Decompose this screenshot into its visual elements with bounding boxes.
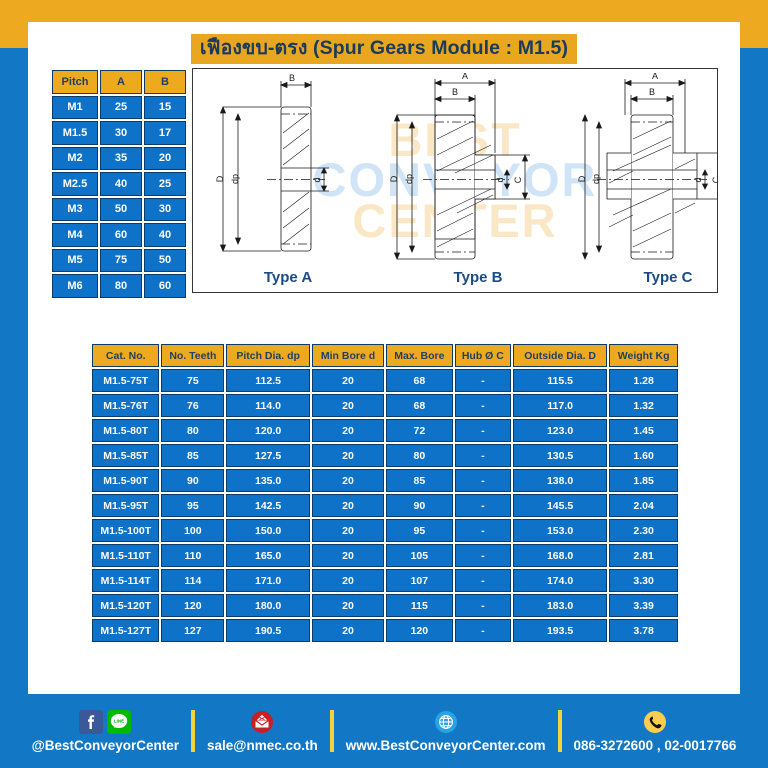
spec-cell: 20 bbox=[312, 594, 384, 617]
spec-cell: 80 bbox=[386, 444, 453, 467]
svg-text:LINE: LINE bbox=[114, 719, 124, 724]
pitch-cell: 30 bbox=[144, 198, 186, 222]
spec-cell: 80 bbox=[161, 419, 224, 442]
pitch-cell: 50 bbox=[144, 249, 186, 273]
spec-cell: 20 bbox=[312, 469, 384, 492]
pitch-table-row: M23520 bbox=[52, 147, 186, 171]
spec-cell: 2.04 bbox=[609, 494, 678, 517]
spec-cell: 174.0 bbox=[513, 569, 607, 592]
spec-cell: 95 bbox=[161, 494, 224, 517]
pitch-cell: 40 bbox=[144, 223, 186, 247]
dim-label-dp: dp bbox=[230, 174, 240, 184]
social-handle[interactable]: @BestConveyorCenter bbox=[32, 738, 179, 753]
pitch-cell: 30 bbox=[100, 121, 142, 145]
spec-cell: 20 bbox=[312, 519, 384, 542]
spec-cell: 1.60 bbox=[609, 444, 678, 467]
spec-cell: 3.39 bbox=[609, 594, 678, 617]
dim-label-d-outside: D bbox=[577, 175, 587, 182]
spec-cell: 150.0 bbox=[226, 519, 310, 542]
dim-label-b: B bbox=[289, 73, 295, 83]
spec-cell: 153.0 bbox=[513, 519, 607, 542]
spec-cell: 171.0 bbox=[226, 569, 310, 592]
pitch-table-row: M35030 bbox=[52, 198, 186, 222]
spec-cell: 183.0 bbox=[513, 594, 607, 617]
title-container: เฟืองขบ-ตรง (Spur Gears Module : M1.5) bbox=[28, 22, 740, 64]
social-icons: LINE bbox=[79, 709, 131, 735]
pitch-table-row: M1.53017 bbox=[52, 121, 186, 145]
table-row: M1.5-80T80120.02072-123.01.45 bbox=[92, 419, 678, 442]
pitch-cell: 20 bbox=[144, 147, 186, 171]
spec-table-container: Cat. No.No. TeethPitch Dia. dpMin Bore d… bbox=[90, 342, 680, 644]
spec-cell: 107 bbox=[386, 569, 453, 592]
pitch-cell: 15 bbox=[144, 96, 186, 120]
spec-cell: - bbox=[455, 369, 511, 392]
spec-cell: 95 bbox=[386, 519, 453, 542]
type-b-label: Type B bbox=[383, 269, 573, 286]
spec-cell: 85 bbox=[386, 469, 453, 492]
spec-cell: 120 bbox=[161, 594, 224, 617]
table-row: M1.5-90T90135.02085-138.01.85 bbox=[92, 469, 678, 492]
table-row: M1.5-114T114171.020107-174.03.30 bbox=[92, 569, 678, 592]
table-row: M1.5-95T95142.52090-145.52.04 bbox=[92, 494, 678, 517]
spec-cell: 85 bbox=[161, 444, 224, 467]
dim-label-a: A bbox=[462, 73, 468, 81]
spec-cell: 114 bbox=[161, 569, 224, 592]
type-a-label: Type A bbox=[193, 269, 383, 286]
dim-label-a: A bbox=[652, 73, 658, 81]
dim-label-dp: dp bbox=[591, 174, 601, 184]
spec-cell: M1.5-110T bbox=[92, 544, 159, 567]
spec-cell: M1.5-85T bbox=[92, 444, 159, 467]
spec-cell: 110 bbox=[161, 544, 224, 567]
spec-cell: 165.0 bbox=[226, 544, 310, 567]
diagram-type-a: B D dp d Type A bbox=[193, 69, 383, 292]
spec-cell: 75 bbox=[161, 369, 224, 392]
spec-cell: 130.5 bbox=[513, 444, 607, 467]
spec-cell: 1.45 bbox=[609, 419, 678, 442]
spec-cell: 3.78 bbox=[609, 619, 678, 642]
type-b-drawing: A B D dp d C bbox=[383, 73, 573, 273]
spec-cell: 190.5 bbox=[226, 619, 310, 642]
spec-cell: - bbox=[455, 394, 511, 417]
spec-cell: 145.5 bbox=[513, 494, 607, 517]
pitch-header-pitch: Pitch bbox=[52, 70, 98, 94]
pitch-cell: M6 bbox=[52, 274, 98, 298]
phone-icon-wrap bbox=[643, 709, 667, 735]
pitch-cell: 40 bbox=[100, 172, 142, 196]
globe-icon[interactable] bbox=[434, 710, 458, 734]
pitch-cell: M4 bbox=[52, 223, 98, 247]
spec-cell: - bbox=[455, 569, 511, 592]
pitch-cell: 25 bbox=[100, 96, 142, 120]
spec-cell: 20 bbox=[312, 494, 384, 517]
spec-cell: 112.5 bbox=[226, 369, 310, 392]
footer-contact-bar: LINE @BestConveyorCenter sale@nmec.co.th bbox=[0, 694, 768, 768]
pitch-table-row: M68060 bbox=[52, 274, 186, 298]
dim-label-b: B bbox=[649, 87, 655, 97]
spec-cell: M1.5-120T bbox=[92, 594, 159, 617]
spec-header-cell: Max. Bore bbox=[386, 344, 453, 367]
spec-cell: 115.5 bbox=[513, 369, 607, 392]
spec-header-cell: Weight Kg bbox=[609, 344, 678, 367]
email-icon-wrap bbox=[250, 709, 274, 735]
table-row: M1.5-75T75112.52068-115.51.28 bbox=[92, 369, 678, 392]
spec-cell: 20 bbox=[312, 369, 384, 392]
pitch-table-row: M2.54025 bbox=[52, 172, 186, 196]
diagram-row: B D dp d Type A bbox=[193, 69, 717, 292]
diagram-panel: BEST CONVEYOR CENTER bbox=[192, 68, 718, 293]
spec-cell: 90 bbox=[386, 494, 453, 517]
phone-icon[interactable] bbox=[643, 710, 667, 734]
dim-label-c: C bbox=[513, 176, 523, 183]
spec-cell: 20 bbox=[312, 544, 384, 567]
pitch-cell: 80 bbox=[100, 274, 142, 298]
spec-cell: 20 bbox=[312, 569, 384, 592]
spec-cell: M1.5-95T bbox=[92, 494, 159, 517]
type-c-label: Type C bbox=[573, 269, 718, 286]
spec-cell: - bbox=[455, 444, 511, 467]
spec-cell: 68 bbox=[386, 394, 453, 417]
spec-header-cell: Pitch Dia. dp bbox=[226, 344, 310, 367]
pitch-cell: M1.5 bbox=[52, 121, 98, 145]
spec-header-cell: Hub Ø C bbox=[455, 344, 511, 367]
spec-cell: M1.5-90T bbox=[92, 469, 159, 492]
spec-cell: - bbox=[455, 619, 511, 642]
pitch-table-row: M12515 bbox=[52, 96, 186, 120]
spec-cell: 115 bbox=[386, 594, 453, 617]
pitch-table-header-row: Pitch A B bbox=[52, 70, 186, 94]
spec-cell: 127 bbox=[161, 619, 224, 642]
spec-header-cell: Outside Dia. D bbox=[513, 344, 607, 367]
spec-cell: 135.0 bbox=[226, 469, 310, 492]
table-row: M1.5-110T110165.020105-168.02.81 bbox=[92, 544, 678, 567]
spec-cell: 72 bbox=[386, 419, 453, 442]
upper-section: Pitch A B M12515M1.53017M23520M2.54025M3… bbox=[50, 68, 718, 296]
spec-cell: - bbox=[455, 419, 511, 442]
spec-cell: 2.30 bbox=[609, 519, 678, 542]
spec-table: Cat. No.No. TeethPitch Dia. dpMin Bore d… bbox=[90, 342, 680, 644]
spec-cell: - bbox=[455, 519, 511, 542]
spec-cell: - bbox=[455, 469, 511, 492]
pitch-table-row: M46040 bbox=[52, 223, 186, 247]
spec-cell: M1.5-76T bbox=[92, 394, 159, 417]
diagram-type-b: A B D dp d C Type B bbox=[383, 69, 573, 292]
content-card: เฟืองขบ-ตรง (Spur Gears Module : M1.5) P… bbox=[28, 22, 740, 694]
spec-cell: 114.0 bbox=[226, 394, 310, 417]
spec-cell: 1.28 bbox=[609, 369, 678, 392]
spec-cell: M1.5-127T bbox=[92, 619, 159, 642]
dim-label-d-bore: d bbox=[312, 177, 322, 182]
spec-cell: 127.5 bbox=[226, 444, 310, 467]
pitch-cell: 60 bbox=[144, 274, 186, 298]
email-icon[interactable] bbox=[250, 710, 274, 734]
spec-table-header-row: Cat. No.No. TeethPitch Dia. dpMin Bore d… bbox=[92, 344, 678, 367]
dim-label-d-bore: d bbox=[693, 177, 703, 182]
spec-cell: 180.0 bbox=[226, 594, 310, 617]
phone-number[interactable]: 086-3272600 , 02-0017766 bbox=[574, 738, 737, 753]
pitch-cell: M5 bbox=[52, 249, 98, 273]
spec-cell: - bbox=[455, 494, 511, 517]
pitch-cell: M2 bbox=[52, 147, 98, 171]
spec-cell: - bbox=[455, 594, 511, 617]
spec-cell: 20 bbox=[312, 419, 384, 442]
pitch-header-b: B bbox=[144, 70, 186, 94]
pitch-cell: 60 bbox=[100, 223, 142, 247]
spec-cell: 90 bbox=[161, 469, 224, 492]
dim-label-d-bore: d bbox=[495, 177, 505, 182]
type-c-drawing: A B D dp d C bbox=[573, 73, 718, 273]
pitch-header-a: A bbox=[100, 70, 142, 94]
pitch-cell: M2.5 bbox=[52, 172, 98, 196]
line-icon[interactable]: LINE bbox=[107, 710, 131, 734]
spec-cell: M1.5-114T bbox=[92, 569, 159, 592]
facebook-icon[interactable] bbox=[79, 710, 103, 734]
pitch-cell: 17 bbox=[144, 121, 186, 145]
pitch-cell: 25 bbox=[144, 172, 186, 196]
spec-cell: - bbox=[455, 544, 511, 567]
website-url[interactable]: www.BestConveyorCenter.com bbox=[346, 738, 546, 753]
pitch-cell: M3 bbox=[52, 198, 98, 222]
pitch-cell: 50 bbox=[100, 198, 142, 222]
dim-label-dp: dp bbox=[404, 174, 414, 184]
spec-cell: 193.5 bbox=[513, 619, 607, 642]
spec-cell: 138.0 bbox=[513, 469, 607, 492]
spec-cell: 1.85 bbox=[609, 469, 678, 492]
spec-cell: 68 bbox=[386, 369, 453, 392]
dim-label-d-outside: D bbox=[215, 175, 225, 182]
globe-icon-wrap bbox=[434, 709, 458, 735]
spec-cell: 123.0 bbox=[513, 419, 607, 442]
table-row: M1.5-127T127190.520120-193.53.78 bbox=[92, 619, 678, 642]
pitch-cell: 75 bbox=[100, 249, 142, 273]
spec-cell: 20 bbox=[312, 394, 384, 417]
spec-cell: 2.81 bbox=[609, 544, 678, 567]
dim-label-d-outside: D bbox=[389, 175, 399, 182]
footer-social[interactable]: LINE @BestConveyorCenter bbox=[20, 709, 191, 753]
spec-cell: 76 bbox=[161, 394, 224, 417]
pitch-cell: M1 bbox=[52, 96, 98, 120]
dim-label-b: B bbox=[452, 87, 458, 97]
diagram-type-c: A B D dp d C Type C bbox=[573, 69, 718, 292]
spec-cell: 20 bbox=[312, 619, 384, 642]
spec-cell: M1.5-80T bbox=[92, 419, 159, 442]
spec-header-cell: Min Bore d bbox=[312, 344, 384, 367]
spec-cell: 117.0 bbox=[513, 394, 607, 417]
type-a-drawing: B D dp d bbox=[193, 73, 383, 273]
spec-header-cell: Cat. No. bbox=[92, 344, 159, 367]
pitch-table: Pitch A B M12515M1.53017M23520M2.54025M3… bbox=[50, 68, 188, 300]
spec-cell: 3.30 bbox=[609, 569, 678, 592]
dim-label-c: C bbox=[711, 176, 718, 183]
pitch-cell: 35 bbox=[100, 147, 142, 171]
table-row: M1.5-120T120180.020115-183.03.39 bbox=[92, 594, 678, 617]
spec-cell: 20 bbox=[312, 444, 384, 467]
spec-cell: 1.32 bbox=[609, 394, 678, 417]
spec-cell: 168.0 bbox=[513, 544, 607, 567]
spec-cell: 100 bbox=[161, 519, 224, 542]
email-address[interactable]: sale@nmec.co.th bbox=[207, 738, 318, 753]
table-row: M1.5-100T100150.02095-153.02.30 bbox=[92, 519, 678, 542]
table-row: M1.5-76T76114.02068-117.01.32 bbox=[92, 394, 678, 417]
spec-cell: M1.5-75T bbox=[92, 369, 159, 392]
pitch-table-row: M57550 bbox=[52, 249, 186, 273]
table-row: M1.5-85T85127.52080-130.51.60 bbox=[92, 444, 678, 467]
spec-cell: 105 bbox=[386, 544, 453, 567]
spec-cell: 142.5 bbox=[226, 494, 310, 517]
page-title: เฟืองขบ-ตรง (Spur Gears Module : M1.5) bbox=[191, 34, 577, 64]
spec-cell: M1.5-100T bbox=[92, 519, 159, 542]
footer-website[interactable]: www.BestConveyorCenter.com bbox=[334, 709, 558, 753]
spec-cell: 120.0 bbox=[226, 419, 310, 442]
footer-email[interactable]: sale@nmec.co.th bbox=[195, 709, 330, 753]
spec-cell: 120 bbox=[386, 619, 453, 642]
footer-phone[interactable]: 086-3272600 , 02-0017766 bbox=[562, 709, 749, 753]
spec-header-cell: No. Teeth bbox=[161, 344, 224, 367]
